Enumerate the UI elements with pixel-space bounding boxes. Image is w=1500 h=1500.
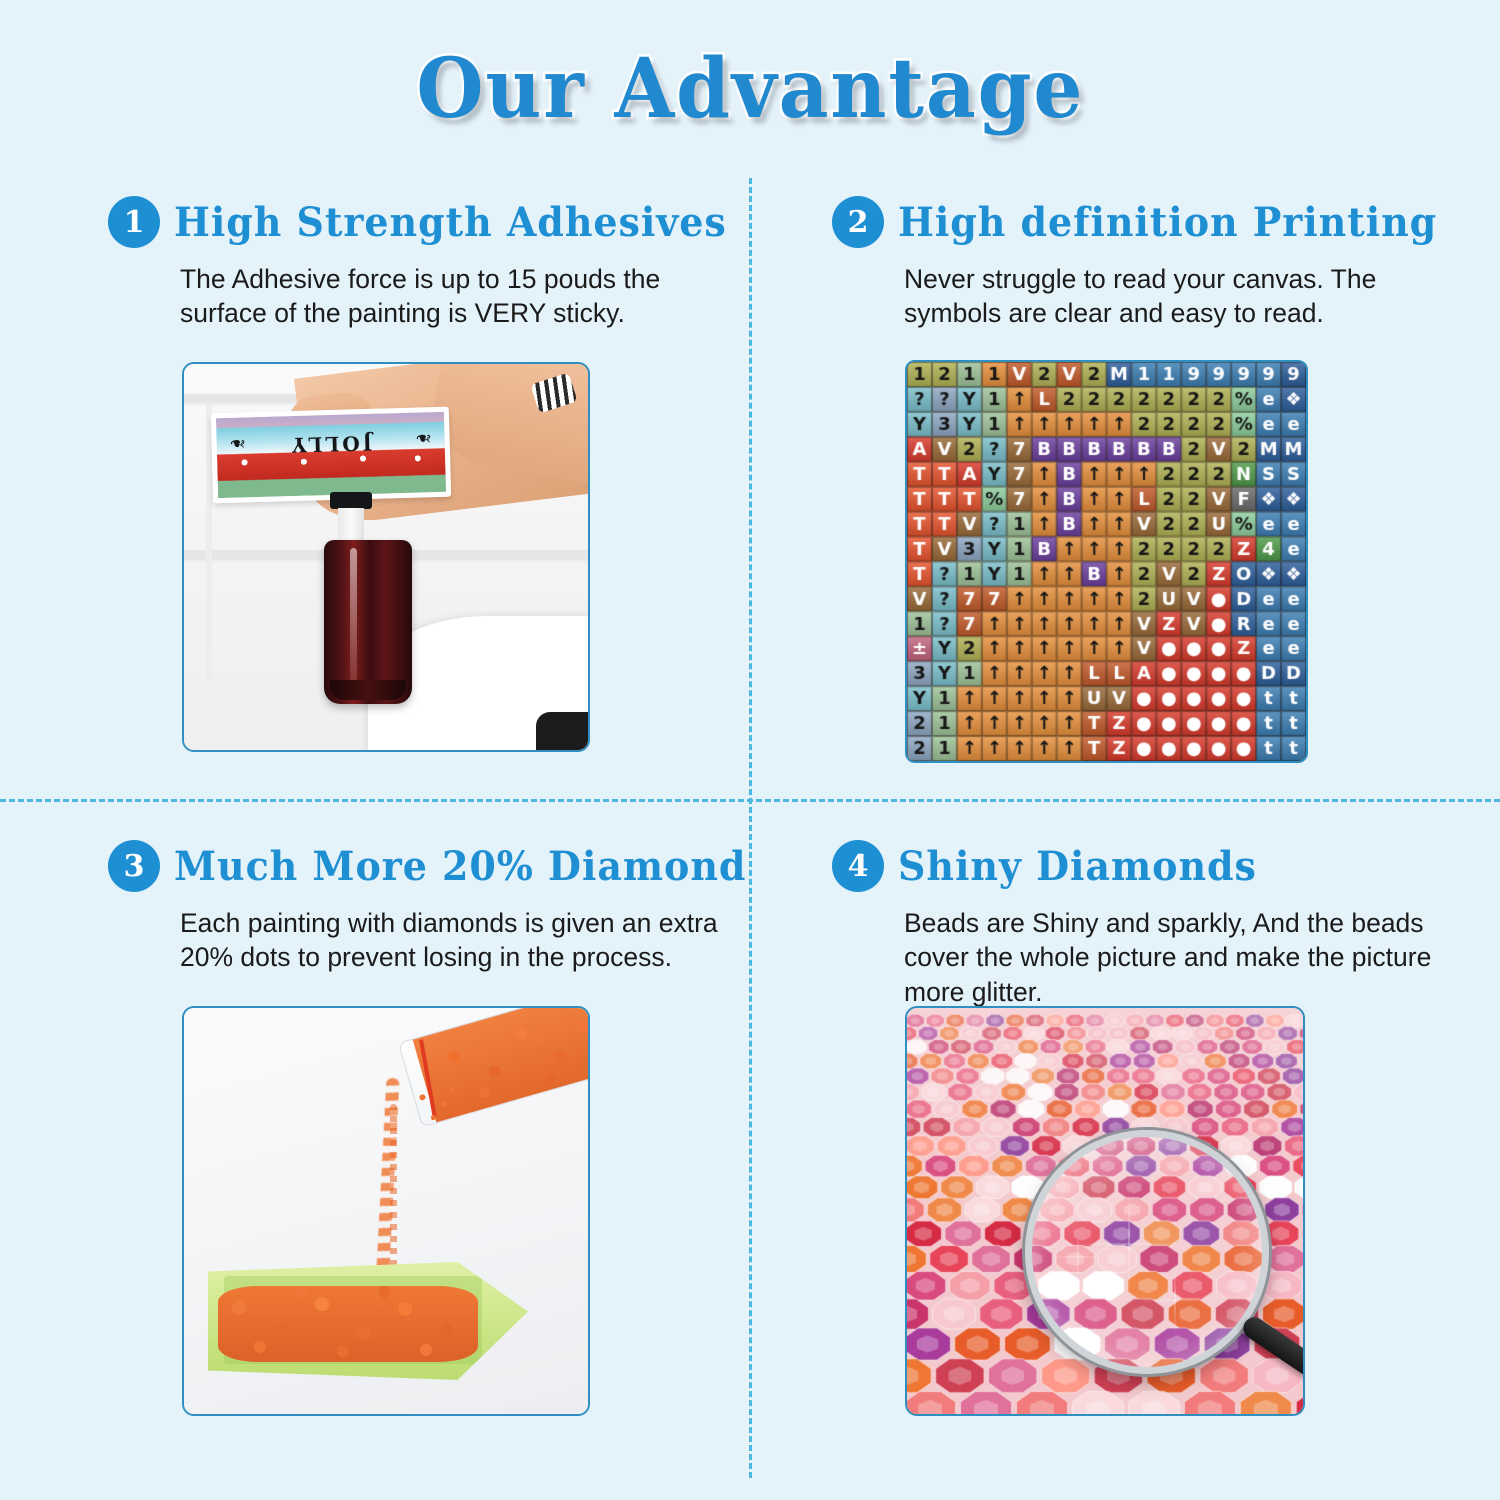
panel-1-heading-row: 1 High Strength Adhesives bbox=[108, 196, 728, 248]
panel-3-heading: Much More 20% Diamond bbox=[174, 843, 746, 890]
bottle-cap bbox=[330, 492, 372, 509]
diamond-painting-canvas: ❧ ❧ JOLLY bbox=[211, 407, 451, 504]
horizontal-divider bbox=[0, 799, 1500, 802]
panel-2-body: Never struggle to read your canvas. The … bbox=[904, 262, 1452, 331]
panel-1-heading: High Strength Adhesives bbox=[174, 199, 727, 246]
advantage-panel-4: 4 Shiny Diamonds Beads are Shiny and spa… bbox=[832, 840, 1452, 1009]
panel-4-number-badge: 4 bbox=[832, 840, 884, 892]
panel-3-number-badge: 3 bbox=[108, 840, 160, 892]
advantage-panel-3: 3 Much More 20% Diamond Each painting wi… bbox=[108, 840, 758, 975]
panel-4-heading-row: 4 Shiny Diamonds bbox=[832, 840, 1452, 892]
panel-3-body: Each painting with diamonds is given an … bbox=[180, 906, 758, 975]
panel-2-heading-row: 2 High definition Printing bbox=[832, 196, 1452, 248]
bead-spray bbox=[411, 1082, 470, 1132]
panel-2-number-badge: 2 bbox=[832, 196, 884, 248]
magnifier-lens bbox=[1025, 1130, 1269, 1374]
soda-bottle bbox=[324, 540, 412, 704]
page-header: Our Advantage bbox=[0, 46, 1500, 132]
panel-1-body: The Adhesive force is up to 15 pouds the… bbox=[180, 262, 728, 331]
lens-gleam bbox=[1025, 1130, 1269, 1286]
bottle-base bbox=[330, 680, 406, 700]
adhesive-demo-photo: ❧ ❧ JOLLY bbox=[182, 362, 590, 752]
panel-2-heading: High definition Printing bbox=[898, 199, 1437, 246]
panel-4-heading: Shiny Diamonds bbox=[898, 843, 1257, 890]
advantage-panel-2: 2 High definition Printing Never struggl… bbox=[832, 196, 1452, 331]
panel-1-number-badge: 1 bbox=[108, 196, 160, 248]
advantage-panel-1: 1 High Strength Adhesives The Adhesive f… bbox=[108, 196, 728, 331]
extra-beads-photo bbox=[182, 1006, 590, 1416]
bottle-highlight bbox=[350, 548, 357, 688]
symbol-grid-canvas bbox=[907, 362, 1306, 761]
bottle-neck bbox=[338, 508, 364, 542]
vertical-divider bbox=[749, 178, 752, 1478]
tray-beads bbox=[218, 1286, 478, 1362]
sparkle-star-small bbox=[1140, 1265, 1210, 1335]
panel-3-heading-row: 3 Much More 20% Diamond bbox=[108, 840, 758, 892]
sleeve-cuff bbox=[536, 712, 590, 752]
page-title: Our Advantage bbox=[416, 46, 1084, 132]
symbol-grid-photo bbox=[905, 360, 1308, 763]
shiny-diamonds-photo bbox=[905, 1006, 1305, 1416]
panel-4-body: Beads are Shiny and sparkly, And the bea… bbox=[904, 906, 1452, 1009]
